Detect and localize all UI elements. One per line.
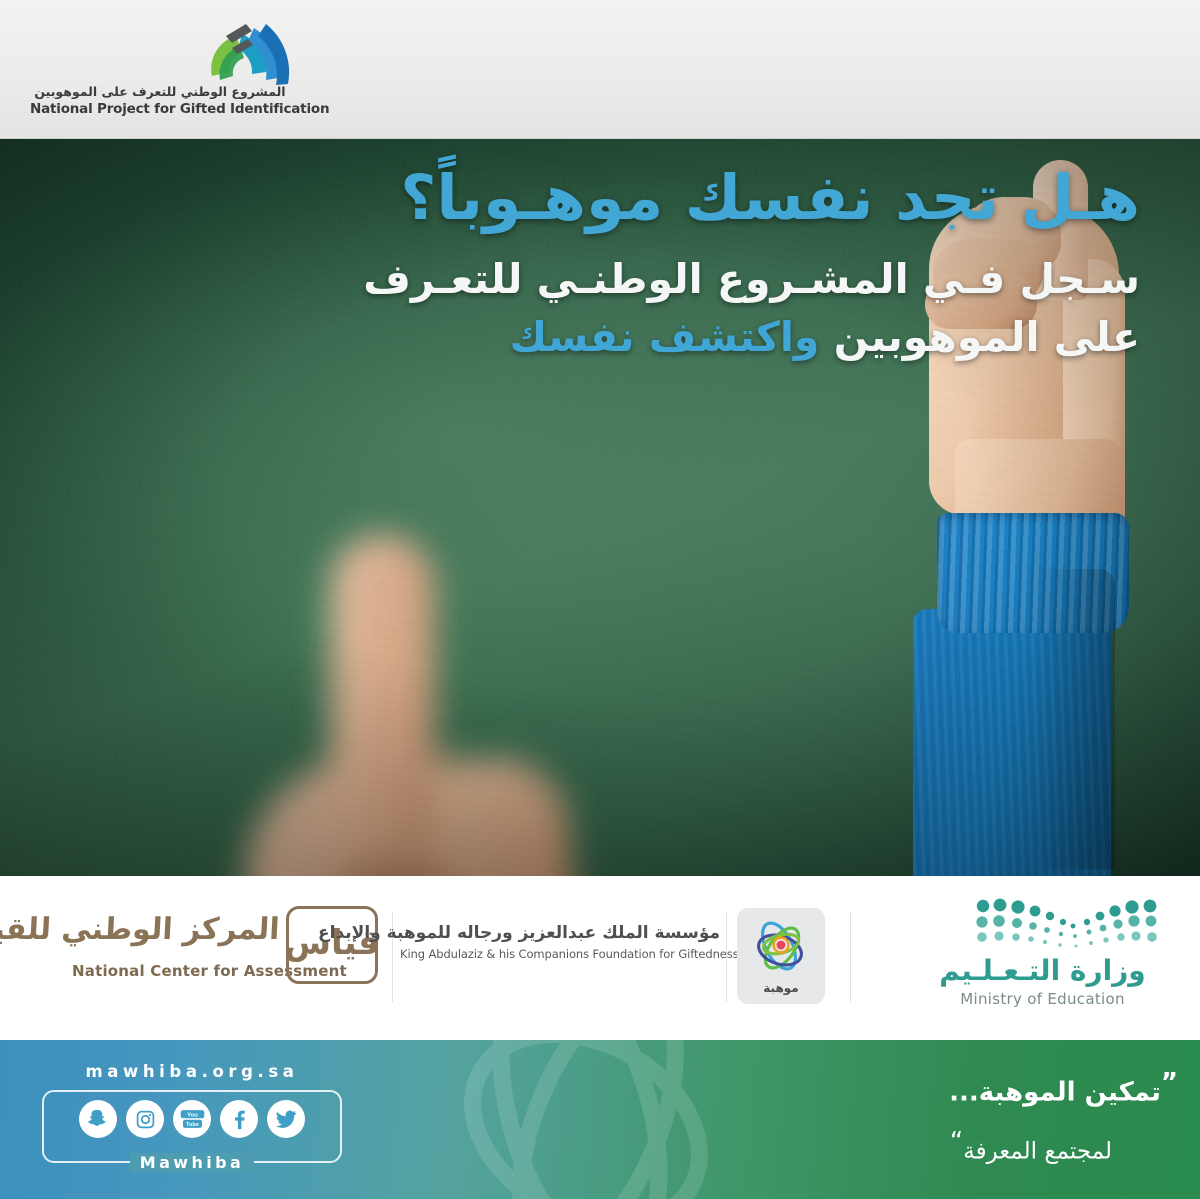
partner-divider [726,912,727,1002]
ministry-name-arabic: وزارة التـعـلـيم [915,954,1170,987]
mawhiba-brand-label: Mawhiba [130,1153,254,1172]
quote-open-icon: ” [1161,1068,1178,1098]
mawhiba-wordmark: موهبة [763,981,798,995]
quote-close-icon: “ [950,1127,963,1157]
partner-logo-qiyas[interactable]: المركز الوطني للقياس National Center for… [48,904,378,1004]
hero-copy: هـل تجد نفسك موهـوباً؟ سـجل فـي المشـروع… [240,161,1140,367]
brand-lockup: المشروع الوطني للتعرف على الموهوبين Nati… [0,0,1200,139]
brand-text-block: المشروع الوطني للتعرف على الموهوبين Nati… [30,84,290,118]
partner-logo-ministry-of-education[interactable]: وزارة التـعـلـيم Ministry of Education [915,898,1170,1018]
hero-subtitle: سـجل فـي المشـروع الوطنـي للتعـرف على ال… [240,250,1140,366]
social-row: You Tube [56,1100,328,1138]
brandname-wrap: Mawhiba [44,1153,340,1172]
ministry-palm-dots-icon [975,898,1160,950]
tagline-line-1: ”تمكين الموهبة... [758,1068,1178,1109]
hero-subtitle-line2-plain: على الموهوبين [819,313,1140,361]
social-frame: You Tube [42,1090,342,1163]
qiyas-name-arabic: المركز الوطني للقياس [0,912,281,947]
tagline-line-2-text: لمجتمع المعرفة [963,1139,1112,1165]
qiyas-name-english: National Center for Assessment [72,962,292,980]
hero-subtitle-line1: سـجل فـي المشـروع الوطنـي للتعـرف [240,250,1140,308]
snapchat-icon[interactable] [79,1100,117,1138]
tagline-line-1-text: تمكين الموهبة... [949,1078,1161,1108]
kacfgc-name-english: King Abdulaziz & his Companions Foundati… [400,947,720,961]
footer-band: mawhiba.org.sa [0,1040,1200,1199]
svg-text:Tube: Tube [186,1122,199,1128]
brand-name-arabic: المشروع الوطني للتعرف على الموهوبين [30,84,290,100]
brand-name-english: National Project for Gifted Identificati… [30,101,290,118]
twitter-icon[interactable] [267,1100,305,1138]
page-title: هـل تجد نفسك موهـوباً؟ [240,161,1140,234]
header-band: المشروع الوطني للتعرف على الموهوبين Nati… [0,0,1200,139]
partner-logos-band: المركز الوطني للقياس National Center for… [0,876,1200,1040]
footer-tagline: ”تمكين الموهبة... لمجتمع المعرفة“ [758,1068,1178,1166]
blurred-foreground-hand [150,534,670,876]
website-url[interactable]: mawhiba.org.sa [42,1062,342,1081]
youtube-icon[interactable]: You Tube [173,1100,211,1138]
hero-chalkboard: هـل تجد نفسك موهـوباً؟ سـجل فـي المشـروع… [0,139,1200,876]
partner-divider [850,912,851,1002]
partner-logo-mawhiba[interactable]: موهبة [737,908,825,1004]
ministry-name-english: Ministry of Education [915,990,1170,1008]
footer-social-block: mawhiba.org.sa [42,1062,342,1163]
kacfgc-name-arabic: مؤسسة الملك عبدالعزيز ورجاله للموهبة وال… [400,922,720,945]
qiyas-badge: قياس [286,906,378,984]
mawhiba-orbit-icon [752,918,810,978]
svg-text:You: You [187,1113,198,1119]
hero-subtitle-line2: على الموهوبين واكتشف نفسك [240,308,1140,366]
facebook-icon[interactable] [220,1100,258,1138]
poster-root: المشروع الوطني للتعرف على الموهوبين Nati… [0,0,1200,1199]
partner-logo-kacfgc[interactable]: مؤسسة الملك عبدالعزيز ورجاله للموهبة وال… [400,922,720,961]
tagline-line-2: لمجتمع المعرفة“ [758,1127,1178,1166]
instagram-icon[interactable] [126,1100,164,1138]
hero-subtitle-accent: واكتشف نفسك [510,313,820,361]
